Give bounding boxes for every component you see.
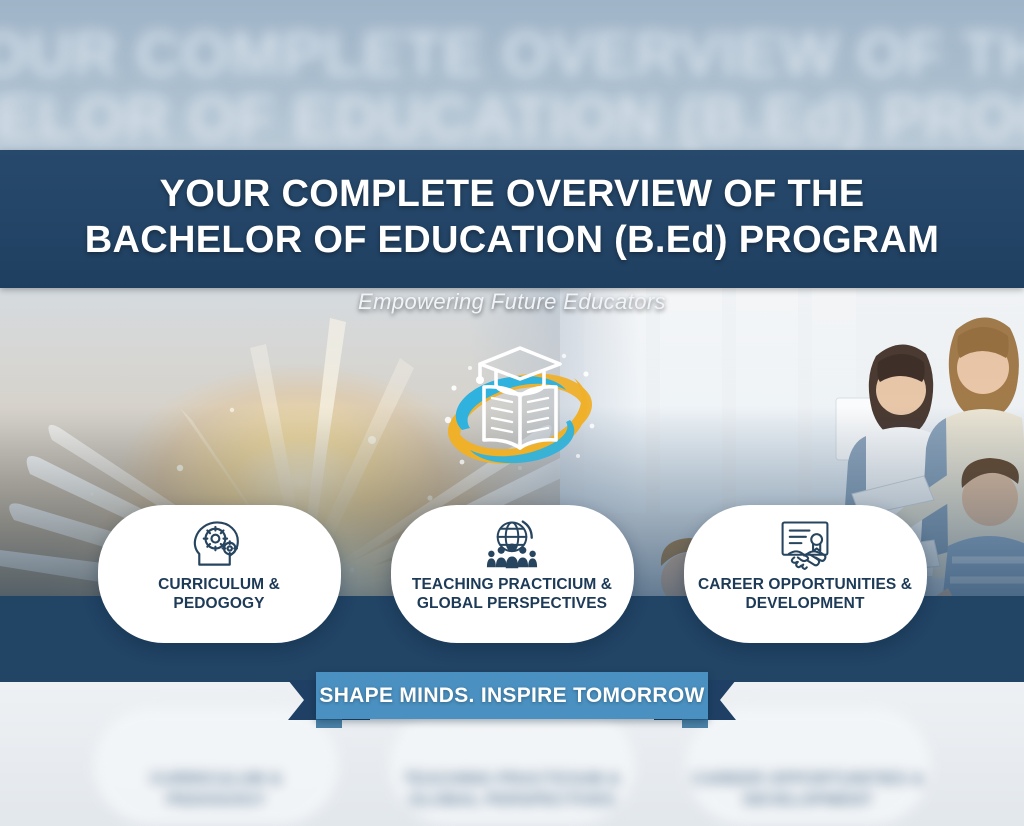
title-line-1: YOUR COMPLETE OVERVIEW OF THE: [160, 173, 865, 215]
ribbon-fold-left: [316, 719, 342, 728]
title-line-2: BACHELOR OF EDUCATION (B.Ed) PROGRAM: [0, 218, 1024, 264]
card-label-line2: GLOBAL PERSPECTIVES: [417, 595, 607, 612]
ghost-card-label-1a: CURRICULUM &: [150, 769, 282, 789]
page-title: YOUR COMPLETE OVERVIEW OF THE BACHELOR O…: [0, 172, 1024, 263]
ghost-card-label-1b: PEDOGOGY: [166, 790, 265, 810]
feature-card-practicum[interactable]: TEACHING PRACTICIUM & GLOBAL PERSPECTIVE…: [391, 505, 634, 643]
ghost-card-label-3b: DEVELOPMENT: [743, 790, 872, 810]
ghost-title-line2: BACHELOR OF EDUCATION (B.Ed) PROGRAM: [0, 86, 1024, 150]
feature-card-label-career: CAREER OPPORTUNITIES & DEVELOPMENT: [698, 576, 912, 614]
feature-card-row: CURRICULUM & PEDOGOGY: [0, 505, 1024, 645]
card-label-line2: DEVELOPMENT: [745, 595, 864, 612]
emblem-icon: [440, 334, 600, 484]
card-label-line2: PEDOGOGY: [173, 595, 264, 612]
ghost-title-line1: YOUR COMPLETE OVERVIEW OF THE: [0, 22, 1024, 89]
title-band: YOUR COMPLETE OVERVIEW OF THE BACHELOR O…: [0, 150, 1024, 288]
ghost-card-label-3a: CAREER OPPORTUNITIES &: [692, 769, 924, 789]
tagline-ribbon: SHAPE MINDS. INSPIRE TOMORROW: [0, 672, 1024, 728]
feature-card-curriculum[interactable]: CURRICULUM & PEDOGOGY: [98, 505, 341, 643]
graduation-cap-book-emblem: [440, 334, 600, 484]
certificate-handshake-icon: [776, 518, 834, 570]
ribbon-band: SHAPE MINDS. INSPIRE TOMORROW: [316, 672, 708, 719]
ribbon-text: SHAPE MINDS. INSPIRE TOMORROW: [319, 684, 704, 708]
blurred-title-backdrop-top: YOUR COMPLETE OVERVIEW OF THE BACHELOR O…: [0, 0, 1024, 150]
feature-card-career[interactable]: CAREER OPPORTUNITIES & DEVELOPMENT: [684, 505, 927, 643]
ribbon-fold-right: [682, 719, 708, 728]
subtitle: Empowering Future Educators: [0, 289, 1024, 315]
head-gears-icon: [190, 518, 248, 570]
ghost-card-label-2b: GLOBAL PERSPECTIVES: [409, 790, 616, 810]
card-label-line1: CURRICULUM &: [158, 576, 280, 593]
feature-card-label-practicum: TEACHING PRACTICIUM & GLOBAL PERSPECTIVE…: [412, 576, 612, 614]
ghost-card-label-2a: TEACHING PRACTICIUM &: [403, 769, 620, 789]
card-label-line1: CAREER OPPORTUNITIES &: [698, 576, 912, 593]
feature-card-label-curriculum: CURRICULUM & PEDOGOGY: [158, 576, 280, 614]
globe-people-icon: [483, 518, 541, 570]
card-label-line1: TEACHING PRACTICIUM &: [412, 576, 612, 593]
poster-canvas: YOUR COMPLETE OVERVIEW OF THE BACHELOR O…: [0, 0, 1024, 826]
